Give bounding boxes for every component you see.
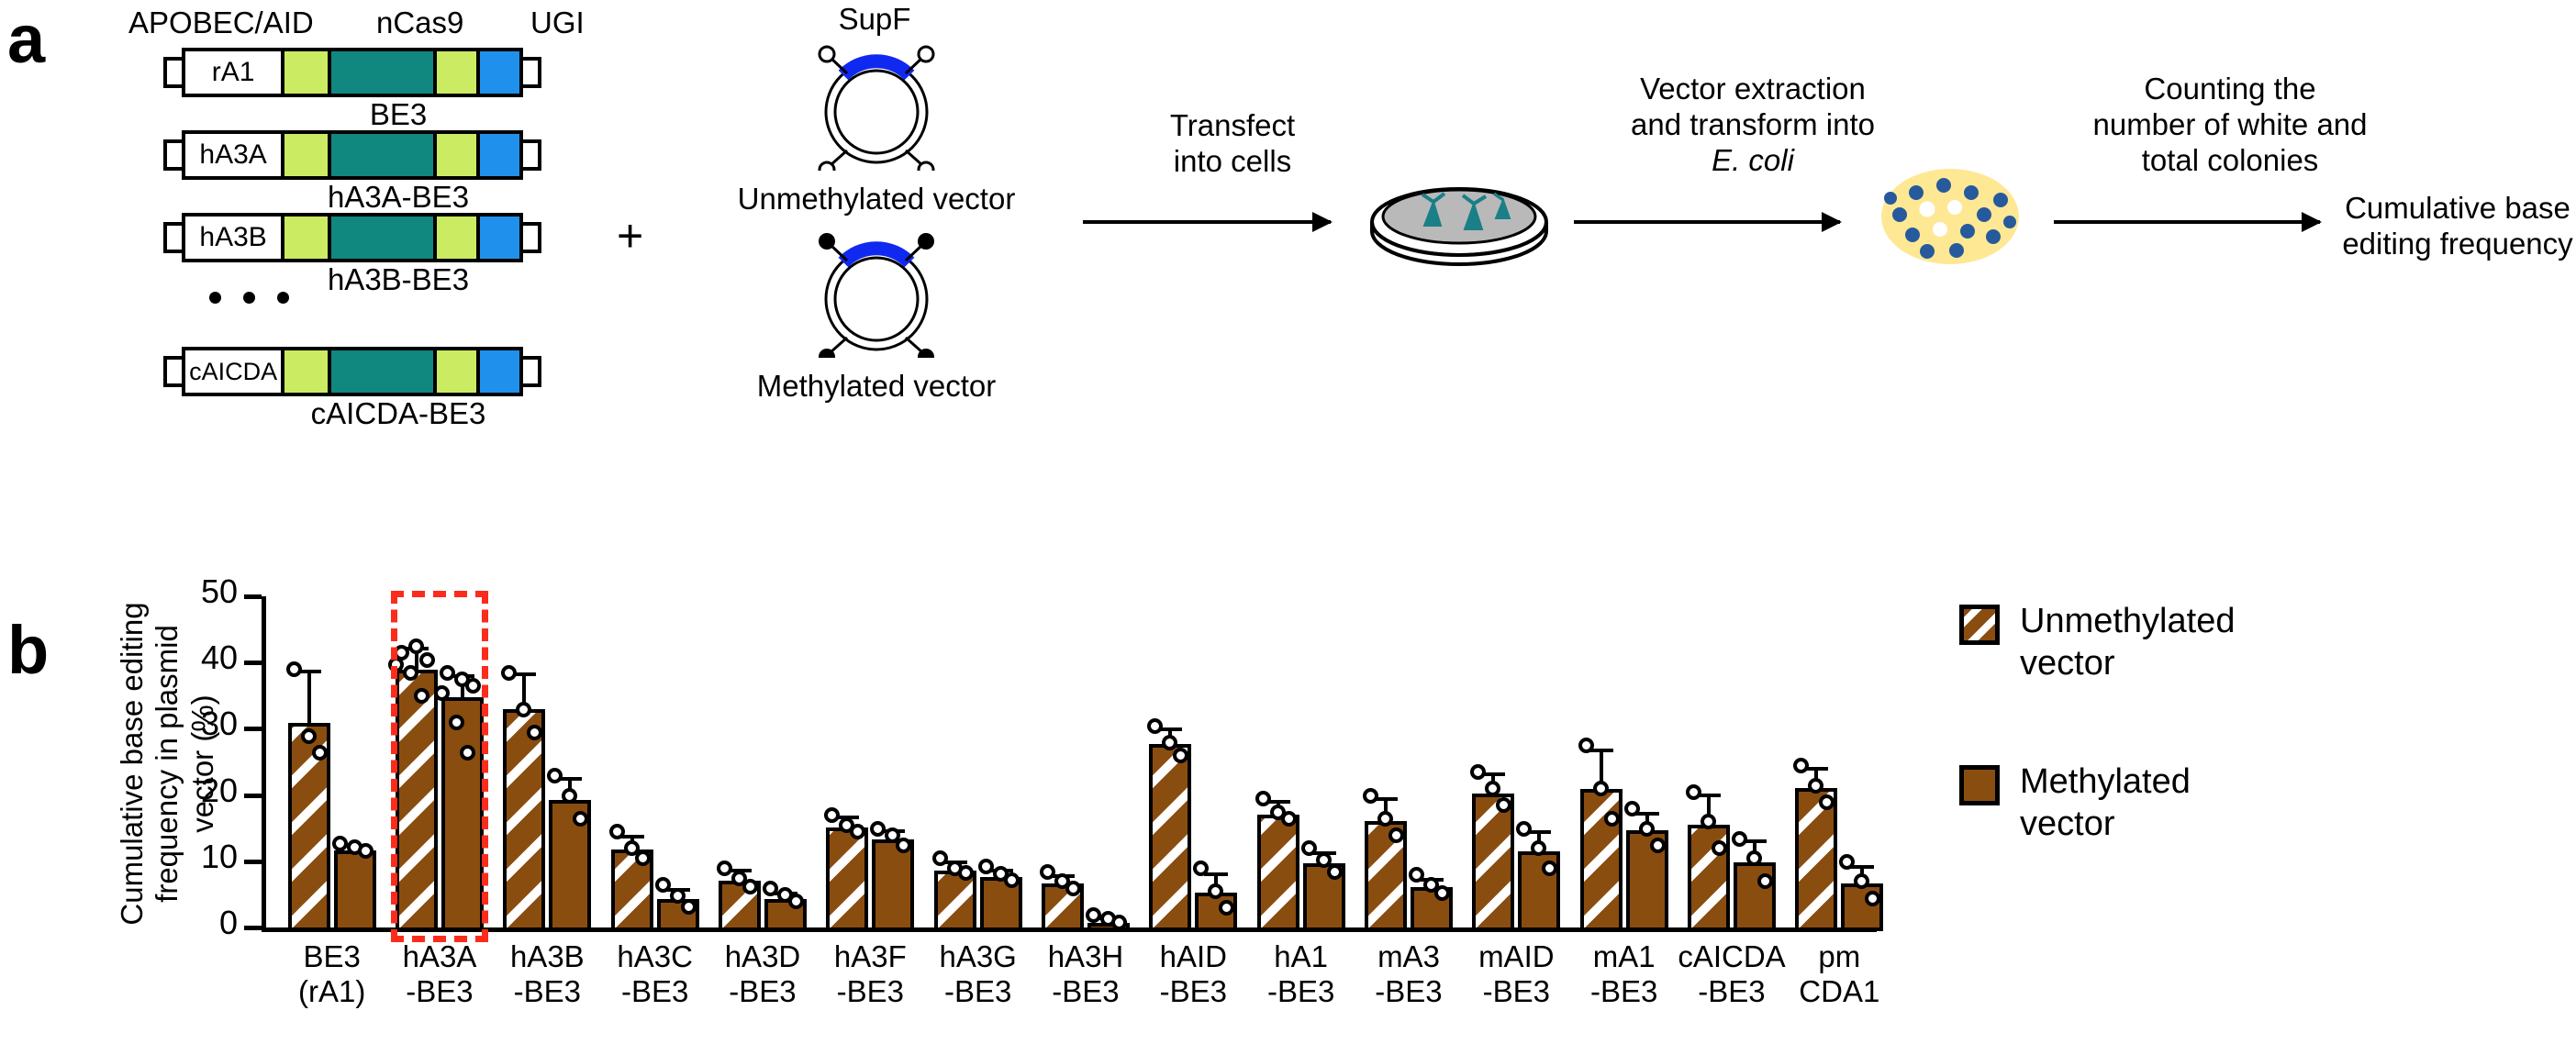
data-point	[465, 678, 481, 694]
segment-ugi	[478, 48, 523, 97]
y-tick	[244, 926, 262, 930]
bar-group	[1688, 600, 1776, 931]
y-tick-label: 40	[128, 639, 238, 677]
data-point	[562, 788, 577, 804]
x-axis-label-line: -BE3	[1678, 974, 1785, 1009]
header-apobec: APOBEC/AID	[128, 6, 314, 40]
data-point	[1388, 827, 1404, 843]
data-point	[824, 807, 840, 823]
data-point	[742, 879, 758, 894]
x-axis-label: hA3A-BE3	[385, 939, 493, 1010]
x-axis-label: hAID-BE3	[1140, 939, 1247, 1010]
data-point	[332, 836, 348, 851]
workflow-count-line2: number of white and	[2037, 107, 2423, 143]
data-point	[1281, 811, 1297, 827]
x-axis-label-line: hA3B	[494, 939, 601, 974]
error-bar-cap	[1204, 872, 1228, 876]
workflow-count-text: Counting the number of white and total c…	[2037, 72, 2423, 179]
methylated-vector-label: Methylated vector	[725, 369, 1028, 404]
x-axis-label-line: CDA1	[1786, 974, 1893, 1009]
legend-swatch-unmethylated-icon	[1959, 605, 2000, 645]
data-point	[1301, 840, 1317, 856]
y-tick	[244, 794, 262, 798]
bar-group	[934, 600, 1022, 931]
x-axis-label-line: hA3F	[817, 939, 924, 974]
x-axis-label-line: pm	[1786, 939, 1893, 974]
x-axis-label: hA3D-BE3	[708, 939, 816, 1010]
x-axis-label-line: BE3	[278, 939, 385, 974]
data-point	[1839, 854, 1855, 870]
construct-right-cap-icon	[523, 139, 541, 171]
data-point	[1086, 907, 1101, 923]
x-axis-label: hA3F-BE3	[817, 939, 924, 1010]
bar-methylated[interactable]	[1841, 883, 1883, 931]
data-point	[717, 861, 732, 876]
segment-ugi	[478, 213, 523, 262]
data-point	[932, 850, 948, 866]
data-point	[1255, 791, 1271, 806]
segment-ncas9	[329, 213, 435, 262]
construct-ha3b-be3: hA3B hA3B-BE3	[163, 213, 541, 262]
bar-group	[1257, 600, 1345, 931]
segment-ncas9	[329, 130, 435, 180]
segment-ugi	[478, 130, 523, 180]
x-axis-label: pmCDA1	[1786, 939, 1893, 1010]
data-point	[547, 768, 563, 783]
construct-left-cap-icon	[163, 139, 182, 171]
bar-group	[611, 600, 699, 931]
ellipsis-icon	[209, 292, 289, 304]
bar-group	[826, 600, 914, 931]
bar-unmethylated[interactable]	[1149, 744, 1191, 931]
unmethylated-vector-icon	[789, 42, 964, 175]
construct-right-cap-icon	[523, 222, 541, 253]
panel-a-schematic: APOBEC/AID nCas9 UGI rA1 BE3 hA3A hA3A-B…	[0, 0, 2576, 303]
construct-left-cap-icon	[163, 57, 182, 88]
data-point	[460, 745, 475, 761]
data-point	[1793, 758, 1809, 773]
x-axis-label-line: hA3D	[708, 939, 816, 974]
segment-apobec: hA3A	[182, 130, 283, 180]
workflow-transfect-line2: into cells	[1118, 144, 1347, 180]
data-point	[1377, 811, 1393, 827]
data-point	[978, 859, 994, 874]
segment-apobec: rA1	[182, 48, 283, 97]
bar-unmethylated[interactable]	[396, 670, 438, 931]
data-point	[1004, 872, 1020, 888]
x-axis-label: mAID-BE3	[1463, 939, 1570, 1010]
x-axis-label-line: hA1	[1247, 939, 1355, 974]
construct-name: hA3A-BE3	[163, 180, 541, 215]
cell-culture-dish-icon	[1358, 165, 1560, 271]
x-axis-label-line: hA3A	[385, 939, 493, 974]
bar-methylated[interactable]	[1734, 862, 1776, 931]
workflow-extract-line1: Vector extraction	[1560, 72, 1946, 107]
data-point	[286, 661, 302, 677]
data-point	[763, 881, 778, 896]
data-point	[681, 899, 697, 915]
legend-label-unmethylated-line2: vector	[2020, 643, 2235, 685]
bar-group	[1795, 600, 1883, 931]
bar-group	[396, 600, 484, 931]
x-axis-label: cAICDA-BE3	[1678, 939, 1785, 1010]
y-tick-label: 30	[128, 705, 238, 743]
segment-apobec: cAICDA	[182, 347, 283, 396]
data-point	[403, 665, 418, 681]
bar-chart: Cumulative base editing frequency in pla…	[262, 596, 1886, 1055]
segment-linker-c	[435, 213, 478, 262]
x-axis-label-line: hA3G	[924, 939, 1032, 974]
segment-linker-n	[283, 48, 329, 97]
segment-linker-c	[435, 48, 478, 97]
construct-name: cAICDA-BE3	[163, 396, 541, 431]
bar-methylated[interactable]	[334, 850, 376, 931]
workflow-count-line1: Counting the	[2037, 72, 2423, 107]
x-axis-label-line: hA3H	[1032, 939, 1139, 974]
legend-label-methylated-line1: Methylated	[2020, 761, 2191, 804]
bar-methylated[interactable]	[441, 697, 484, 931]
segment-apobec: hA3B	[182, 213, 283, 262]
data-point	[1624, 801, 1640, 816]
legend-label-unmethylated: Unmethylated vector	[2020, 601, 2235, 684]
data-point	[501, 665, 517, 681]
data-point	[1065, 881, 1081, 896]
data-point	[1650, 838, 1666, 853]
data-point	[1111, 915, 1127, 930]
x-axis-label: hA3H-BE3	[1032, 939, 1139, 1010]
x-axis-label-line: mA3	[1355, 939, 1462, 974]
data-point	[1363, 788, 1378, 804]
data-point	[440, 665, 455, 681]
data-point	[1434, 885, 1450, 901]
y-tick	[244, 860, 262, 864]
header-ncas9: nCas9	[376, 6, 463, 40]
x-axis-label-line: -BE3	[494, 974, 601, 1009]
workflow-transfect-line1: Transfect	[1118, 108, 1347, 144]
data-point	[788, 894, 804, 909]
x-axis-label-line: mA1	[1570, 939, 1678, 974]
construct-name-text: cAICDA-BE3	[311, 396, 486, 431]
data-point	[1686, 784, 1701, 800]
data-point	[1470, 764, 1486, 780]
x-axis-label-line: -BE3	[1140, 974, 1247, 1009]
x-axis-label-line: -BE3	[924, 974, 1032, 1009]
y-axis-line	[262, 596, 266, 931]
construct-right-cap-icon	[523, 57, 541, 88]
arrow-transfect-icon	[1083, 220, 1331, 224]
data-point	[609, 824, 625, 839]
data-point	[358, 843, 374, 859]
construct-be3: rA1 BE3	[163, 48, 541, 97]
x-axis-label: BE3(rA1)	[278, 939, 385, 1010]
y-tick	[244, 661, 262, 665]
segment-ncas9	[329, 347, 435, 396]
error-bar-cap	[1850, 865, 1874, 869]
bar-group	[1472, 600, 1560, 931]
construct-name: BE3	[163, 97, 541, 132]
plus-sign: +	[617, 209, 643, 262]
methylated-vector-icon	[789, 229, 964, 362]
x-axis-label-line: (rA1)	[278, 974, 385, 1009]
x-axis-label-line: -BE3	[1032, 974, 1139, 1009]
bar-group	[1149, 600, 1237, 931]
data-point	[434, 685, 450, 701]
legend-label-unmethylated-line1: Unmethylated	[2020, 601, 2235, 643]
panel-b-chart: Cumulative base editing frequency in pla…	[0, 569, 2576, 1004]
x-axis-label: hA1-BE3	[1247, 939, 1355, 1010]
data-point	[301, 728, 317, 744]
data-point	[1865, 891, 1880, 906]
bar-group	[1365, 600, 1453, 931]
y-tick-label: 50	[128, 572, 238, 611]
plot-area	[262, 596, 1886, 931]
unmethylated-vector-label: Unmethylated vector	[711, 182, 1042, 217]
segment-ugi	[478, 347, 523, 396]
workflow-result-line1: Cumulative base	[2338, 191, 2576, 227]
bar-unmethylated[interactable]	[1472, 794, 1514, 931]
bar-unmethylated[interactable]	[826, 827, 868, 931]
construct-left-cap-icon	[163, 222, 182, 253]
bar-unmethylated[interactable]	[1580, 789, 1623, 931]
legend-label-methylated-line2: vector	[2020, 804, 2191, 846]
legend-item-methylated: Methylated vector	[1959, 761, 2191, 845]
workflow-count-line3: total colonies	[2037, 143, 2423, 179]
data-point	[408, 639, 424, 654]
x-axis-label-line: hAID	[1140, 939, 1247, 974]
error-bar	[307, 670, 311, 723]
workflow-result-text: Cumulative base editing frequency	[2338, 191, 2576, 262]
segment-linker-n	[283, 213, 329, 262]
x-axis-label: hA3C-BE3	[601, 939, 708, 1010]
bar-unmethylated[interactable]	[503, 709, 545, 931]
y-tick-label: 10	[128, 838, 238, 876]
data-point	[388, 657, 404, 672]
bar-unmethylated[interactable]	[1257, 815, 1299, 931]
arrow-count-icon	[2054, 220, 2320, 224]
data-point	[312, 745, 328, 761]
data-point	[958, 865, 974, 881]
construct-name-text: BE3	[370, 97, 427, 132]
x-axis-label-line: -BE3	[385, 974, 493, 1009]
x-axis-label: mA1-BE3	[1570, 939, 1678, 1010]
x-axis-label: hA3G-BE3	[924, 939, 1032, 1010]
construct-right-cap-icon	[523, 356, 541, 387]
segment-linker-n	[283, 130, 329, 180]
data-point	[1147, 718, 1163, 734]
construct-name-text: hA3A-BE3	[328, 180, 469, 215]
data-point	[1604, 811, 1620, 827]
construct-caicda-be3: cAICDA cAICDA-BE3	[163, 347, 541, 396]
x-axis-label-line: cAICDA	[1678, 939, 1785, 974]
data-point	[655, 877, 671, 893]
workflow-transfect-text: Transfect into cells	[1118, 108, 1347, 180]
segment-linker-c	[435, 130, 478, 180]
bar-group	[1580, 600, 1668, 931]
data-point	[1327, 864, 1343, 880]
data-point	[896, 838, 911, 853]
workflow-extract-line2: and transform into	[1560, 107, 1946, 143]
legend-item-unmethylated: Unmethylated vector	[1959, 601, 2235, 684]
data-point	[1578, 738, 1594, 753]
x-axis-label-line: -BE3	[1247, 974, 1355, 1009]
construct-left-cap-icon	[163, 356, 182, 387]
construct-ha3a-be3: hA3A hA3A-BE3	[163, 130, 541, 180]
x-axis-label: mA3-BE3	[1355, 939, 1462, 1010]
bar-group	[288, 600, 376, 931]
legend-label-methylated: Methylated vector	[2020, 761, 2191, 845]
workflow-result-line2: editing frequency	[2338, 227, 2576, 262]
arrow-extract-icon	[1574, 220, 1840, 224]
segment-ncas9	[329, 48, 435, 97]
data-point	[635, 850, 651, 866]
segment-linker-c	[435, 347, 478, 396]
bar-unmethylated[interactable]	[1795, 788, 1837, 931]
bar-methylated[interactable]	[872, 839, 914, 931]
y-tick	[244, 594, 262, 599]
legend-swatch-methylated-icon	[1959, 765, 2000, 805]
x-axis-label-line: mAID	[1463, 939, 1570, 974]
x-axis-label-line: -BE3	[1463, 974, 1570, 1009]
data-point	[1040, 864, 1055, 880]
x-axis-label-line: -BE3	[1355, 974, 1462, 1009]
y-tick	[244, 727, 262, 731]
y-tick-label: 0	[128, 904, 238, 942]
x-axis-label-line: -BE3	[817, 974, 924, 1009]
x-axis-label-line: -BE3	[1570, 974, 1678, 1009]
colony-plate-icon	[1872, 163, 2028, 273]
x-axis-label-line: -BE3	[708, 974, 816, 1009]
data-point	[419, 652, 435, 668]
y-tick-label: 20	[128, 772, 238, 810]
bar-group	[719, 600, 807, 931]
data-point	[1639, 821, 1655, 837]
data-point	[1593, 781, 1609, 796]
bar-group	[1042, 600, 1130, 931]
x-axis-label: hA3B-BE3	[494, 939, 601, 1010]
x-axis-label-line: -BE3	[601, 974, 708, 1009]
bar-group	[503, 600, 591, 931]
data-point	[1808, 778, 1823, 794]
x-axis-label-line: hA3C	[601, 939, 708, 974]
data-point	[1516, 821, 1532, 837]
supf-label: SupF	[774, 2, 976, 37]
data-point	[1732, 831, 1747, 847]
construct-name-text: hA3B-BE3	[328, 262, 469, 297]
data-point	[870, 821, 886, 837]
segment-linker-n	[283, 347, 329, 396]
header-ugi: UGI	[530, 6, 585, 40]
data-point	[516, 702, 531, 717]
